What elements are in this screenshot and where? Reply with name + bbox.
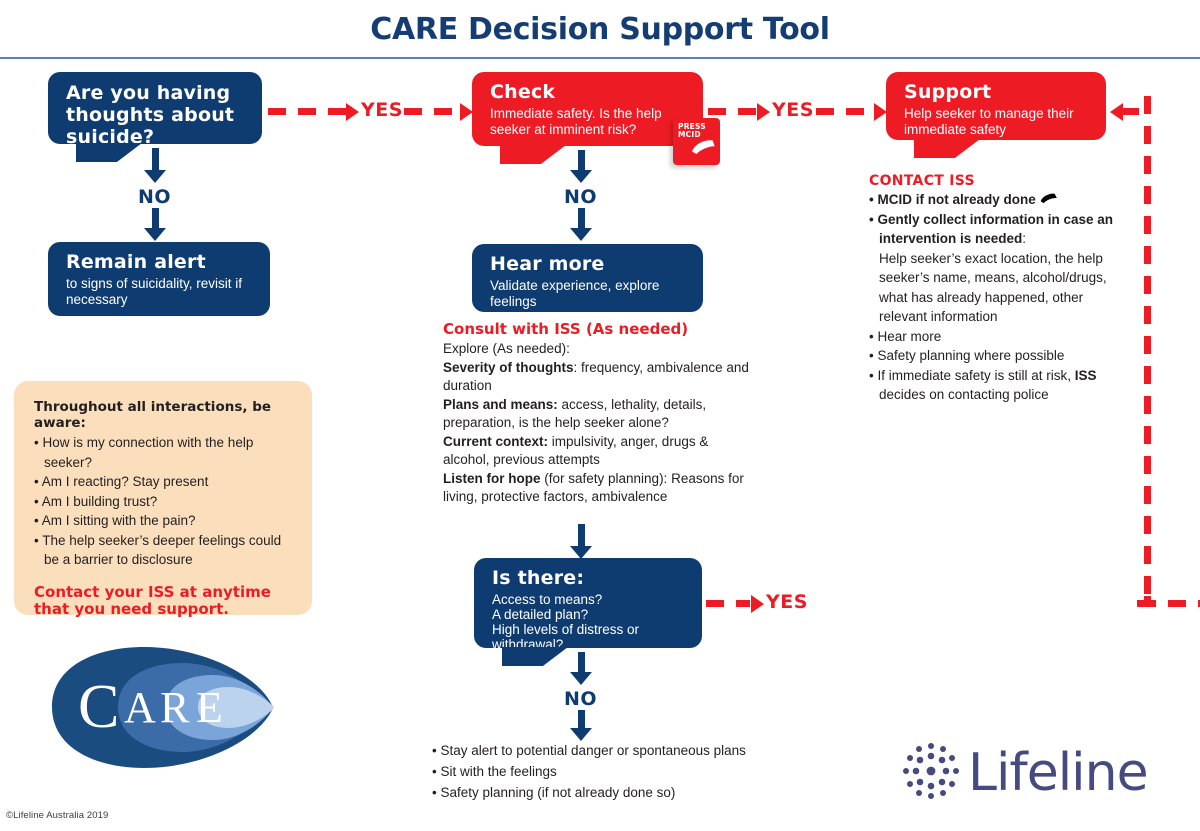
arrow-head-no-left-bottom <box>144 228 166 241</box>
awareness-list: • How is my connection with the help see… <box>34 433 294 570</box>
arrow-line-no-left-bottom <box>152 208 159 230</box>
care-letter-c: C <box>78 673 119 741</box>
node-body: Help seeker to manage their immediate sa… <box>904 106 1092 138</box>
contact-iss-item-text: • If immediate safety is still at risk, <box>869 368 1075 383</box>
care-logo-svg: C A R E <box>48 645 278 770</box>
bubble-tail <box>502 647 568 666</box>
edge-yes-dash-1 <box>268 108 346 115</box>
consult-item-label: Plans and means: <box>443 397 558 412</box>
contact-iss-item-label: • MCID if not already done <box>869 192 1040 207</box>
care-letter-a: A <box>124 683 156 732</box>
contact-iss-item-hear-more: • Hear more <box>869 327 1127 347</box>
outcome-list-item: • Safety planning (if not already done s… <box>432 782 852 803</box>
awareness-list-item: • Am I building trust? <box>34 492 294 512</box>
node-is-there[interactable]: Is there: Access to means? A detailed pl… <box>474 558 702 648</box>
edge-yes-dash-2 <box>404 108 466 115</box>
arrow-head-no-left-top <box>144 170 166 183</box>
edge-label-no-left: NO <box>138 186 171 208</box>
lifeline-logo-svg: Lifeline <box>900 740 1160 802</box>
arrow-line-no-bottom-top <box>578 652 585 674</box>
phone-handset-icon <box>1040 192 1059 207</box>
contact-iss-item-collect-detail: Help seeker’s exact location, the help s… <box>869 249 1127 327</box>
care-letter-e: E <box>196 683 223 732</box>
title-divider <box>0 57 1200 59</box>
consult-item-label: Listen for hope <box>443 471 541 486</box>
contact-iss-item-text: decides on contacting police <box>879 387 1049 402</box>
press-mcid-badge[interactable]: PRESS MCID <box>673 118 720 165</box>
awareness-list-item: • Am I sitting with the pain? <box>34 511 294 531</box>
contact-iss-item-label: ISS <box>1075 368 1097 383</box>
arrow-line-no-left-top <box>152 148 159 172</box>
node-title: Hear more <box>490 254 689 275</box>
edge-label-yes-top-left: YES <box>361 99 403 121</box>
lifeline-logo: Lifeline <box>900 740 1160 802</box>
copyright-text: ©Lifeline Australia 2019 <box>6 810 108 821</box>
return-arrow-stub <box>1123 108 1139 115</box>
consult-item-label: Current context: <box>443 434 548 449</box>
edge-yes-arrowhead-5 <box>751 595 764 613</box>
edge-yes-dash-5 <box>706 600 750 607</box>
edge-yes-arrowhead-1 <box>346 103 359 121</box>
care-logo: C A R E <box>48 645 278 770</box>
arrow-head-no-bottom-top <box>570 672 592 685</box>
awareness-list-item: • Am I reacting? Stay present <box>34 472 294 492</box>
awareness-list-item: • How is my connection with the help see… <box>34 433 294 472</box>
node-check[interactable]: Check Immediate safety. Is the help seek… <box>472 72 703 146</box>
node-title: Support <box>904 82 1092 103</box>
arrow-line-no-bottom-bottom <box>578 710 585 730</box>
consult-with-iss-block: Consult with ISS (As needed) Explore (As… <box>443 320 753 507</box>
consult-heading: Consult with ISS (As needed) <box>443 320 753 339</box>
consult-item: Listen for hope (for safety planning): R… <box>443 470 753 507</box>
bubble-tail <box>914 139 980 158</box>
arrow-head-no-check-bottom <box>570 228 592 241</box>
return-path-horizontal <box>1140 600 1200 607</box>
phone-handset-icon <box>691 135 717 164</box>
consult-item: Severity of thoughts: frequency, ambival… <box>443 359 753 396</box>
consult-item: Plans and means: access, lethality, deta… <box>443 396 753 433</box>
node-title: Is there: <box>492 568 688 589</box>
return-path-vertical <box>1144 96 1151 604</box>
node-title: Are you having thoughts about suicide? <box>66 82 248 148</box>
contact-iss-item-colon: : <box>1022 231 1026 246</box>
node-body: Validate experience, explore feelings <box>490 278 689 310</box>
lifeline-dot-mark <box>903 743 959 799</box>
bubble-tail <box>500 145 566 164</box>
arrow-line-to-is-there <box>578 524 585 548</box>
arrow-line-no-check-bottom <box>578 208 585 230</box>
contact-iss-item-mcid: • MCID if not already done <box>869 190 1127 210</box>
consult-intro: Explore (As needed): <box>443 340 753 359</box>
awareness-footer: Contact your ISS at anytime that you nee… <box>34 584 294 618</box>
node-body: to signs of suicidality, revisit if nece… <box>66 276 256 308</box>
edge-label-no-check: NO <box>564 186 597 208</box>
contact-iss-item-label: • Gently collect information in case an … <box>869 212 1113 247</box>
consult-items: Severity of thoughts: frequency, ambival… <box>443 359 753 507</box>
return-arrowhead-into-support <box>1110 103 1123 121</box>
node-title: Remain alert <box>66 252 256 273</box>
page-title: CARE Decision Support Tool <box>0 12 1200 47</box>
arrow-head-no-check-top <box>570 170 592 183</box>
awareness-list-item: • The help seeker’s deeper feelings coul… <box>34 531 294 570</box>
contact-iss-block: CONTACT ISS • MCID if not already done •… <box>869 172 1127 405</box>
consult-item: Current context: impulsivity, anger, dru… <box>443 433 753 470</box>
contact-iss-items: • MCID if not already done • Gently coll… <box>869 190 1127 405</box>
consult-item-label: Severity of thoughts <box>443 360 574 375</box>
node-are-you-having-thoughts[interactable]: Are you having thoughts about suicide? <box>48 72 262 144</box>
awareness-panel: Throughout all interactions, be aware: •… <box>14 381 312 615</box>
node-body: Immediate safety. Is the help seeker at … <box>490 106 689 138</box>
bubble-tail <box>76 143 142 162</box>
edge-yes-arrowhead-3 <box>757 103 770 121</box>
node-body: Access to means? A detailed plan? High l… <box>492 592 688 652</box>
contact-iss-item-safety-planning: • Safety planning where possible <box>869 346 1127 366</box>
edge-label-no-bottom: NO <box>564 688 597 710</box>
contact-iss-heading: CONTACT ISS <box>869 172 1127 190</box>
node-remain-alert[interactable]: Remain alert to signs of suicidality, re… <box>48 242 270 316</box>
outcome-list-item: • Stay alert to potential danger or spon… <box>432 740 852 761</box>
outcome-list: • Stay alert to potential danger or spon… <box>432 740 852 803</box>
node-hear-more[interactable]: Hear more Validate experience, explore f… <box>472 244 703 312</box>
edge-label-yes-bottom: YES <box>766 591 808 613</box>
node-title: Check <box>490 82 689 103</box>
node-support[interactable]: Support Help seeker to manage their imme… <box>886 72 1106 140</box>
arrow-line-no-check-top <box>578 150 585 172</box>
awareness-title: Throughout all interactions, be aware: <box>34 399 294 431</box>
edge-label-yes-top-right: YES <box>772 99 814 121</box>
contact-iss-item-collect: • Gently collect information in case an … <box>869 210 1127 249</box>
contact-iss-item-police: • If immediate safety is still at risk, … <box>869 366 1127 405</box>
edge-yes-dash-4 <box>816 108 880 115</box>
care-letter-r: R <box>160 683 190 732</box>
outcome-list-item: • Sit with the feelings <box>432 761 852 782</box>
lifeline-wordmark: Lifeline <box>968 743 1148 802</box>
